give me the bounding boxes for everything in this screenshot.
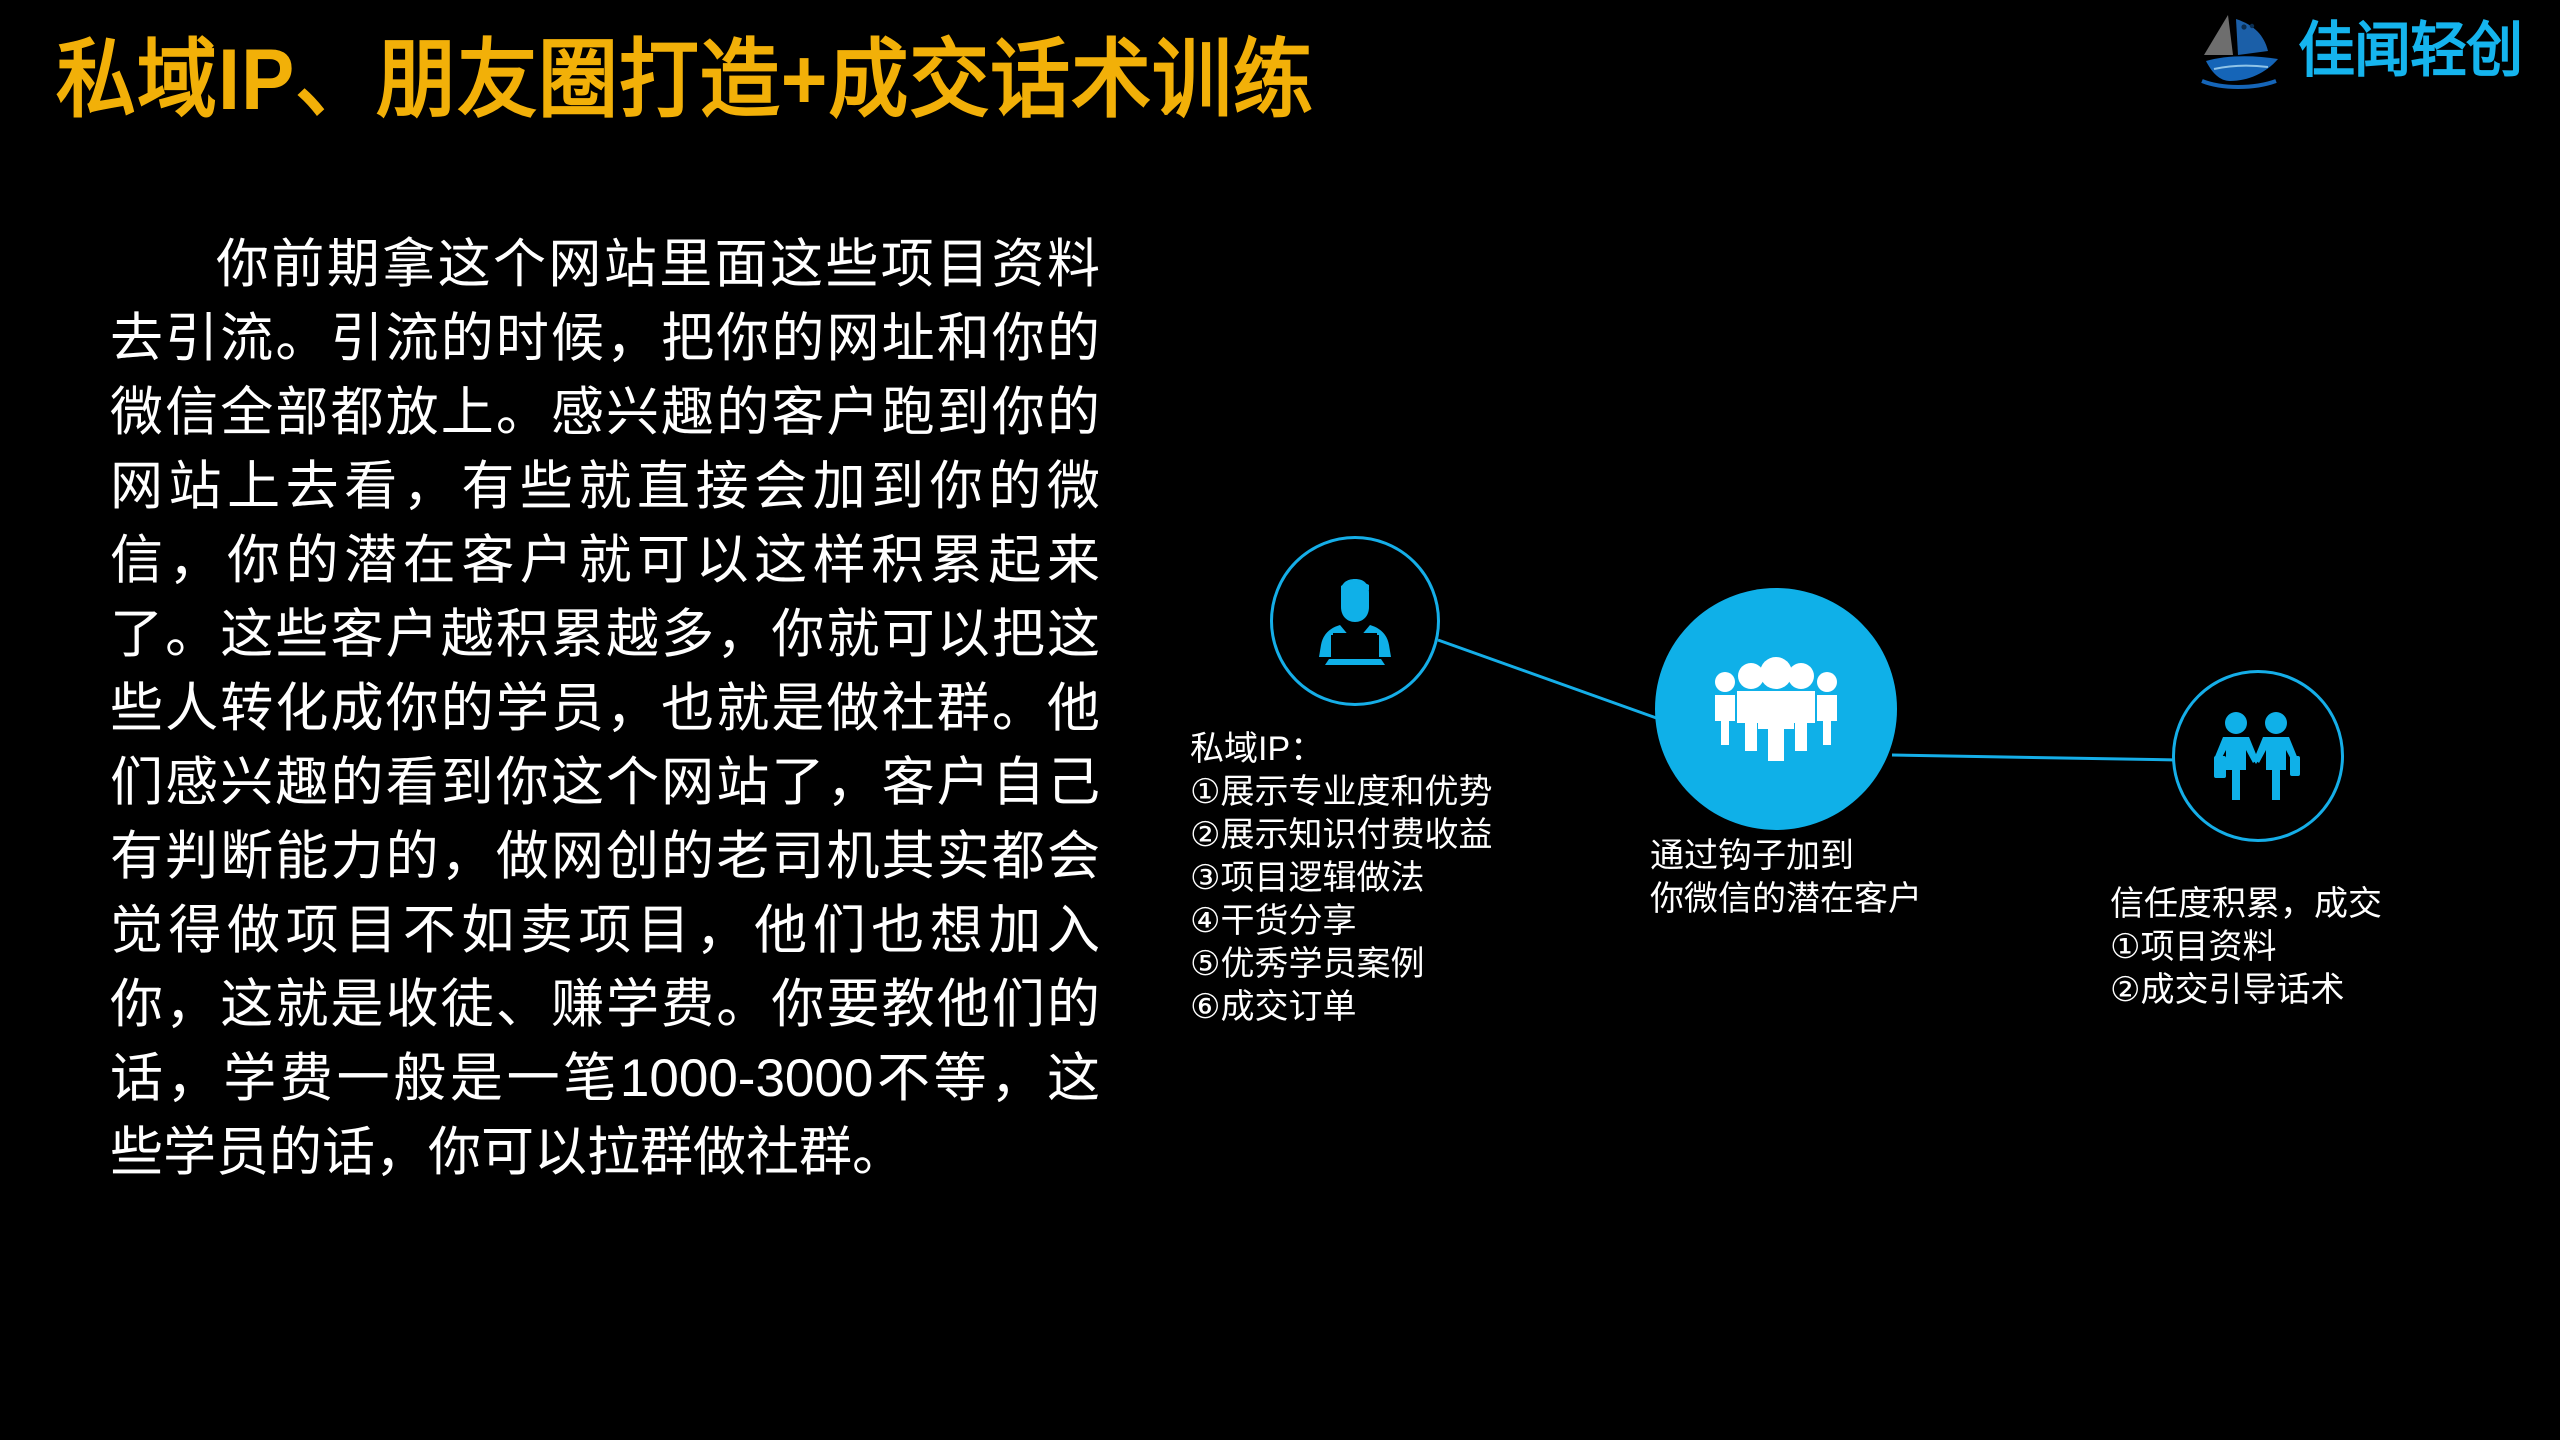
diagram-node-private-domain-ip[interactable] — [1270, 536, 1440, 706]
diagram-node-potential-customers[interactable] — [1655, 588, 1897, 830]
brand-name: 佳闻轻创 — [2298, 21, 2522, 81]
body-paragraph: 你前期拿这个网站里面这些项目资料去引流。引流的时候，把你的网址和你的微信全部都放… — [110, 228, 1100, 1190]
brand-logo: 佳闻轻创 — [2192, 8, 2534, 94]
handshake-two-people-icon — [2208, 710, 2308, 802]
sailboat-icon — [2192, 11, 2288, 91]
group-of-people-icon — [1710, 657, 1842, 761]
funnel-diagram: 私域IP： ①展示专业度和优势 ②展示知识付费收益 ③项目逻辑做法 ④干货分享 … — [1150, 470, 2550, 1170]
caption-trust-and-deal: 信任度积累，成交 ①项目资料 ②成交引导话术 — [2110, 883, 2382, 1012]
diagram-node-trust-and-deal[interactable] — [2172, 670, 2344, 842]
caption-private-domain-ip: 私域IP： ①展示专业度和优势 ②展示知识付费收益 ③项目逻辑做法 ④干货分享 … — [1190, 728, 1492, 1029]
page-title: 私域IP、朋友圈打造+成交话术训练 — [56, 34, 1314, 127]
slide-canvas: 私域IP、朋友圈打造+成交话术训练 佳闻轻创 你前期拿这个网站里面这些项目资料去… — [0, 0, 2560, 1440]
caption-potential-customers: 通过钩子加到 你微信的潜在客户 — [1650, 835, 1922, 921]
person-at-laptop-icon — [1307, 573, 1403, 669]
